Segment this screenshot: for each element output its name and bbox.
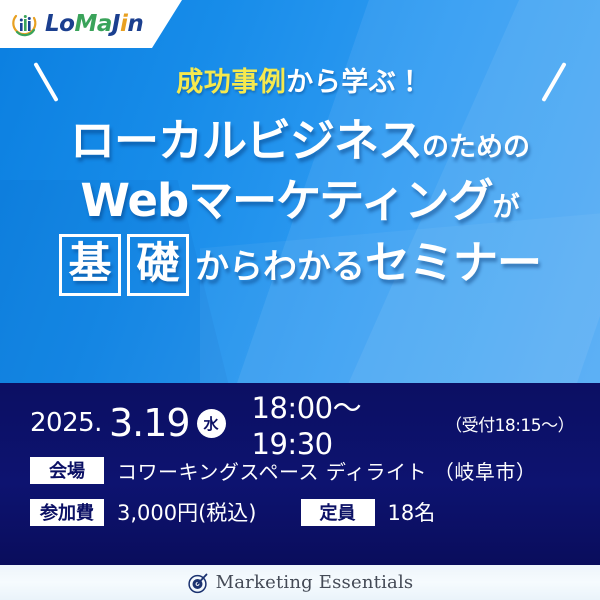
headline-line-3-suffix: が (493, 185, 520, 224)
target-dart-icon (187, 572, 209, 594)
headline-line-2-main: ローカルビジネス (70, 104, 422, 169)
headline-line-3: Webマーケティングが (0, 164, 600, 222)
logo-part-lo: Lo (45, 11, 74, 37)
capacity-value: 18名 (388, 497, 436, 527)
capacity-tag: 定員 (301, 499, 375, 526)
kanji-box-ki: 基 (59, 234, 121, 296)
logo-part-n: n (127, 11, 143, 37)
catch-highlight: 成功事例 (176, 67, 286, 98)
headline-line-4-mid: からわかる (195, 239, 365, 288)
headline-line-4: 基礎からわかるセミナー (0, 226, 600, 296)
footer-brand-name: Marketing Essentials (216, 572, 414, 593)
headline-line-2-suffix: のための (422, 125, 530, 164)
logo-bar[interactable]: LoMaJin (0, 0, 182, 48)
event-fee-capacity-row: 参加費 3,000円(税込) 定員 18名 (30, 491, 574, 533)
event-year: 2025. (30, 408, 102, 438)
slash-decoration-right (541, 62, 566, 102)
venue-value: コワーキングスペース ディライト （岐阜市） (117, 456, 536, 485)
headline-block: 成功事例から学ぶ！ ローカルビジネスのための Webマーケティングが 基礎からわ… (0, 56, 600, 296)
event-venue-row: 会場 コワーキングスペース ディライト （岐阜市） (30, 449, 574, 491)
catch-rest: から学ぶ！ (286, 67, 424, 98)
logo-part-j: J (112, 11, 120, 37)
headline-line-4-end: セミナー (365, 226, 541, 291)
fee-tag: 参加費 (30, 499, 104, 526)
event-time: 18:00〜19:30 (252, 385, 443, 461)
venue-tag: 会場 (30, 457, 104, 484)
bar-chart-circle-icon (10, 9, 40, 39)
event-weekday-badge: 水 (197, 409, 226, 438)
headline-line-2: ローカルビジネスのための (0, 104, 600, 162)
logo-part-ma: Ma (74, 11, 111, 37)
fee-value: 3,000円(税込) (117, 497, 257, 527)
event-info-panel: 2025. 3.19 水 18:00〜19:30 （受付18:15〜） 会場 コ… (0, 383, 600, 565)
event-reception-time: （受付18:15〜） (445, 411, 574, 436)
logo-wordmark: LoMaJin (45, 13, 143, 36)
event-day: 3.19 (109, 401, 190, 445)
kanji-box-so: 礎 (127, 234, 189, 296)
seminar-banner: LoMaJin 成功事例から学ぶ！ ローカルビジネスのための Webマーケティン… (0, 0, 600, 600)
footer-brand-bar: Marketing Essentials (0, 565, 600, 600)
catch-copy-line: 成功事例から学ぶ！ (0, 56, 600, 102)
slash-decoration-left (33, 62, 58, 102)
headline-line-3-main: Webマーケティング (80, 164, 492, 229)
event-date-row: 2025. 3.19 水 18:00〜19:30 （受付18:15〜） (30, 397, 574, 449)
